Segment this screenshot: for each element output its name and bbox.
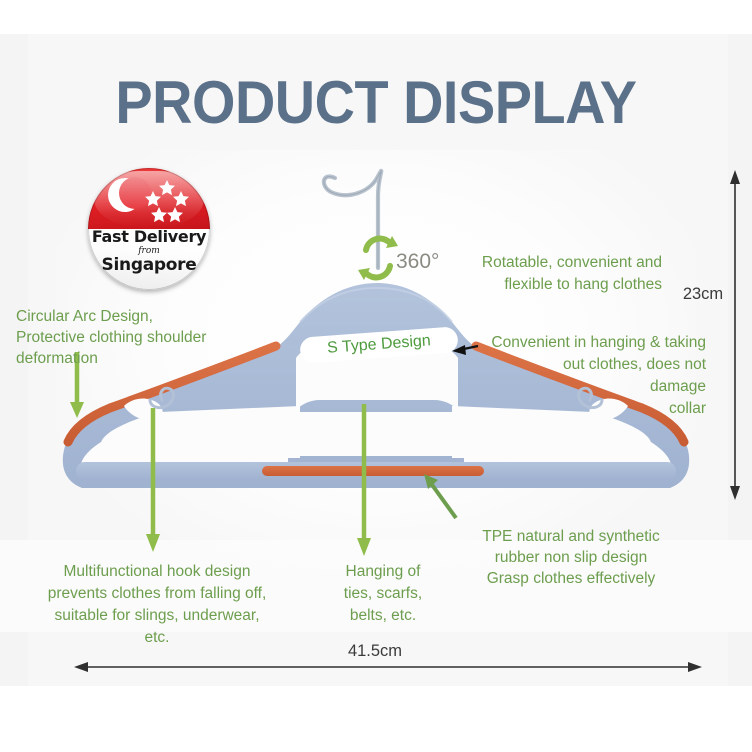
dimension-height-label: 23cm [676,285,730,304]
tpe-annotation: TPE natural and synthetic rubber non sli… [448,526,694,589]
rotate-annotation: Rotatable, convenient and flexible to ha… [400,252,662,296]
rotate-annotation-line1: Rotatable, convenient and [400,252,662,274]
hook-annotation: Multifunctional hook design prevents clo… [12,561,302,649]
badge-line-fast-delivery: Fast Delivery [88,228,210,246]
arc-design-annotation: Circular Arc Design, Protective clothing… [16,306,266,369]
badge-line-singapore: Singapore [88,256,210,275]
tpe-line1: TPE natural and synthetic [448,526,694,547]
bar-line2: ties, scarfs, [318,583,448,605]
collar-line4: collar [466,398,706,420]
background-top-margin [0,0,752,34]
fast-delivery-singapore-badge: Fast Delivery from Singapore [88,168,210,290]
badge-text-block: Fast Delivery from Singapore [88,228,210,275]
bar-annotation: Hanging of ties, scarfs, belts, etc. [318,561,448,627]
product-display-infographic: PRODUCT DISPLAY Fast Delivery from Singa… [0,0,752,752]
arc-design-line3: deformation [16,348,266,369]
collar-line2: out clothes, does not [466,354,706,376]
background-bottom-margin [0,686,752,752]
collar-annotation: Convenient in hanging & taking out cloth… [466,332,706,420]
five-stars-icon [134,180,204,224]
arc-design-line1: Circular Arc Design, [16,306,266,327]
tpe-line3: Grasp clothes effectively [448,568,694,589]
hook-line1: Multifunctional hook design [12,561,302,583]
hook-line4: etc. [12,627,302,649]
collar-line1: Convenient in hanging & taking [466,332,706,354]
page-title: PRODUCT DISPLAY [26,68,725,137]
bar-line3: belts, etc. [318,605,448,627]
dimension-width-label: 41.5cm [310,642,440,661]
arc-design-line2: Protective clothing shoulder [16,327,266,348]
hook-line2: prevents clothes from falling off, [12,583,302,605]
bar-line1: Hanging of [318,561,448,583]
collar-line3: damage [466,376,706,398]
rotate-annotation-line2: flexible to hang clothes [400,274,662,296]
hook-line3: suitable for slings, underwear, [12,605,302,627]
tpe-line2: rubber non slip design [448,547,694,568]
